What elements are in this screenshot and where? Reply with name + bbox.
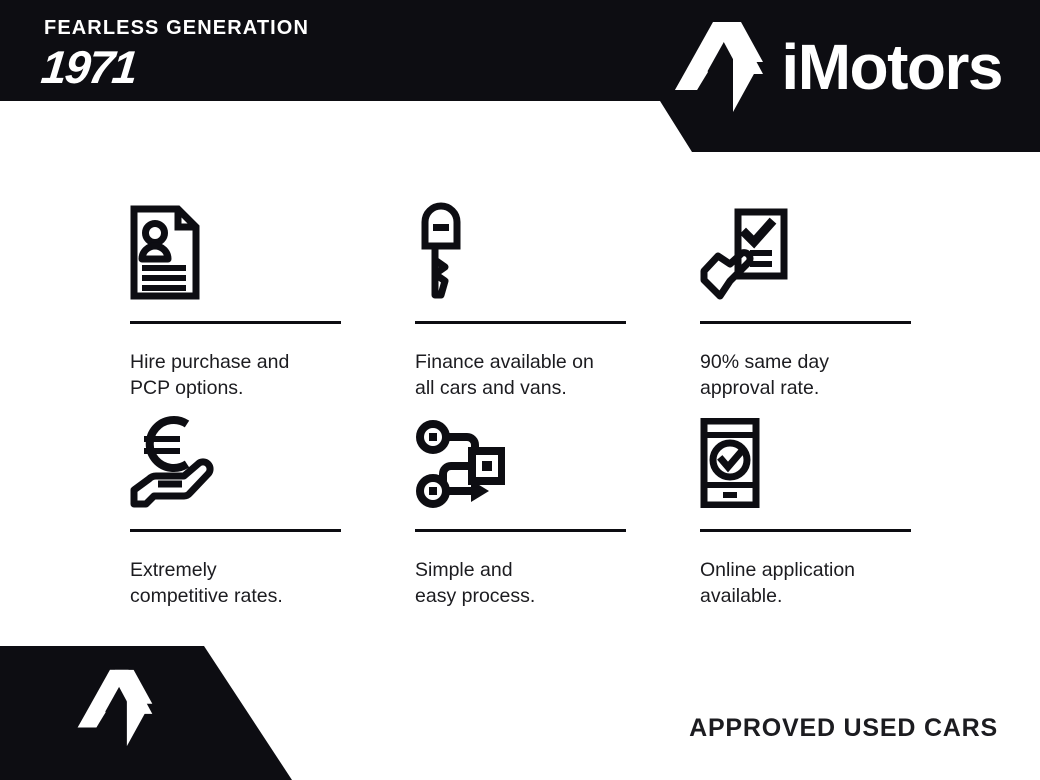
feature-label: Hire purchase and PCP options. — [130, 350, 342, 402]
feature-divider — [700, 321, 911, 324]
feature-divider — [415, 321, 626, 324]
promo-poster: FEARLESS GENERATION 1971 iMotors — [0, 0, 1040, 780]
feature-label: Finance available on all cars and vans. — [415, 350, 627, 402]
campaign-year: 1971 — [39, 44, 364, 90]
campaign-title: FEARLESS GENERATION — [44, 18, 364, 38]
feature-divider — [415, 529, 626, 532]
feature-label: Online application available. — [700, 558, 912, 610]
car-key-icon — [415, 196, 627, 300]
feature-card: Extremely competitive rates. — [130, 404, 342, 610]
feature-label: Extremely competitive rates. — [130, 558, 342, 610]
process-flow-icon — [415, 404, 627, 508]
euro-in-hand-icon — [130, 404, 342, 508]
feature-divider — [130, 321, 341, 324]
footer-band — [0, 640, 320, 780]
feature-label: Simple and easy process. — [415, 558, 627, 610]
feature-card: Simple and easy process. — [415, 404, 627, 610]
footer-tagline: APPROVED USED CARS — [689, 714, 998, 743]
imotors-chevron-logo-icon — [673, 20, 765, 114]
feature-card: 90% same day approval rate. — [700, 196, 912, 404]
feature-card: Hire purchase and PCP options. — [130, 196, 342, 404]
feature-label: 90% same day approval rate. — [700, 350, 912, 402]
brand-name: iMotors — [781, 35, 1002, 99]
feature-card: Online application available. — [700, 404, 912, 610]
campaign-block: FEARLESS GENERATION 1971 — [44, 18, 364, 90]
imotors-chevron-logo-icon — [76, 668, 154, 748]
brand-lockup: iMotors — [673, 20, 1002, 114]
document-person-icon — [130, 196, 342, 300]
feature-card: Finance available on all cars and vans. — [415, 196, 627, 404]
hand-holding-approved-document-icon — [700, 196, 912, 300]
feature-divider — [700, 529, 911, 532]
smartphone-check-icon — [700, 404, 912, 508]
feature-grid: Hire purchase and PCP options. Finance a… — [130, 196, 910, 610]
feature-divider — [130, 529, 341, 532]
